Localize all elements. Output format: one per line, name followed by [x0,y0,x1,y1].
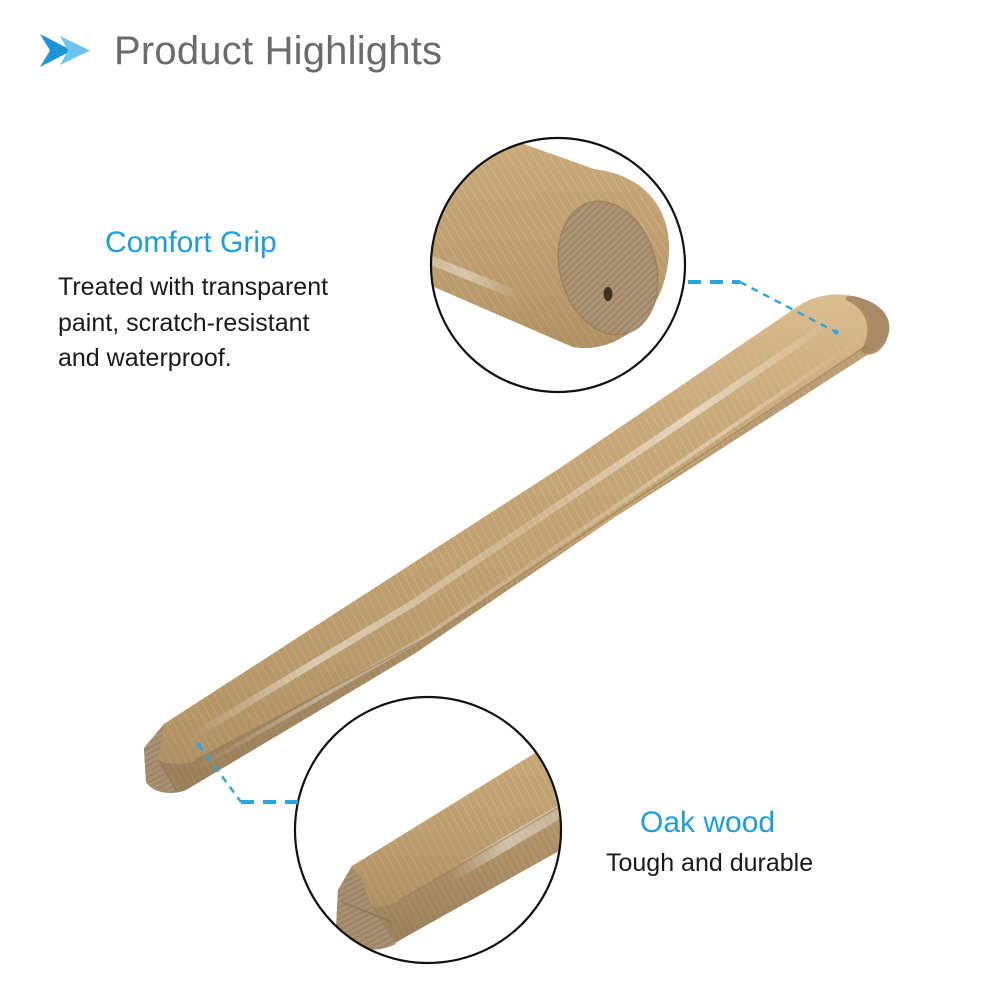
callout-heading: Oak wood [640,806,930,839]
header: Product Highlights [38,30,442,72]
callout-body-line: paint, scratch-resistant [58,306,398,342]
callout-body-line: Treated with transparent [58,270,398,306]
callout-body-line: Tough and durable [606,846,930,882]
product-highlights-image: Product Highlights Comfort Grip Treated … [0,0,1000,1000]
callout-comfort-grip: Comfort Grip Treated with transparent pa… [58,226,398,377]
double-arrow-icon [38,30,100,72]
knot-hole [604,287,613,301]
callout-body-line: and waterproof. [58,341,398,377]
callout-oak-wood: Oak wood Tough and durable [600,806,930,882]
page-title: Product Highlights [114,31,442,71]
callout-heading: Comfort Grip [105,226,398,259]
